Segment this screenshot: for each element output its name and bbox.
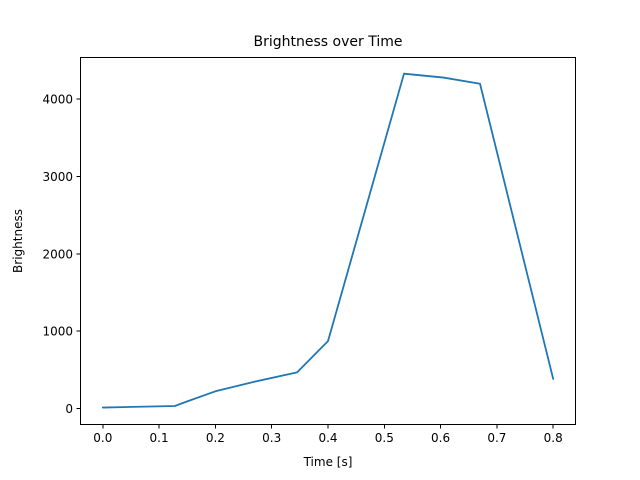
y-tick-label: 4000 <box>42 93 73 107</box>
y-tick-label: 3000 <box>42 170 73 184</box>
x-tick-label: 0.1 <box>150 431 169 445</box>
x-tick-label: 0.3 <box>262 431 281 445</box>
figure-background <box>0 0 640 480</box>
y-tick-label: 2000 <box>42 247 73 261</box>
y-axis-label: Brightness <box>11 209 25 273</box>
x-tick-label: 0.8 <box>544 431 563 445</box>
x-tick-label: 0.0 <box>93 431 112 445</box>
y-tick-label: 0 <box>65 402 73 416</box>
x-tick-label: 0.7 <box>487 431 506 445</box>
figure-canvas: 0.00.10.20.30.40.50.60.70.8 010002000300… <box>0 0 640 480</box>
x-tick-label: 0.5 <box>375 431 394 445</box>
x-axis-label: Time [s] <box>303 455 353 469</box>
line-chart: 0.00.10.20.30.40.50.60.70.8 010002000300… <box>0 0 640 480</box>
chart-title: Brightness over Time <box>254 34 403 50</box>
y-tick-label: 1000 <box>42 325 73 339</box>
x-tick-label: 0.6 <box>431 431 450 445</box>
x-tick-label: 0.2 <box>206 431 225 445</box>
x-tick-label: 0.4 <box>318 431 337 445</box>
